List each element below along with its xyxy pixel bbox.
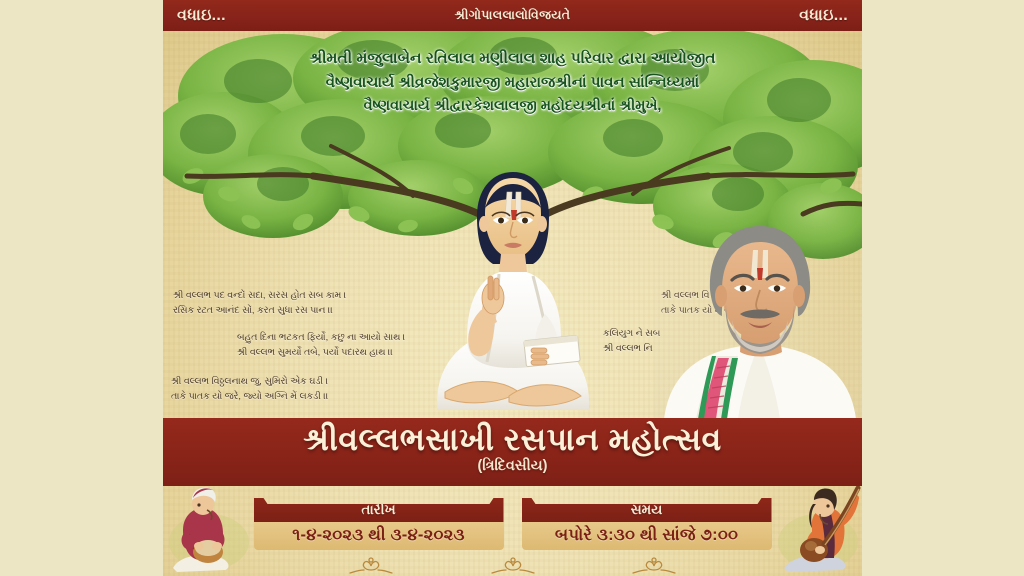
right-margin <box>862 0 1024 576</box>
time-value: બપોરે ૩:૩૦ થી સાંજે ૭:૦૦ <box>522 522 772 550</box>
verse-line: શ્રી વલ્લભ નિ <box>603 341 660 356</box>
banner-right-text: વધાઇ... <box>799 7 848 25</box>
verse-line: કલિયુગ ને સબ <box>603 326 660 341</box>
event-title-band: શ્રીવલ્લભસાખી રસપાન મહોત્સવ (ત્રિદિવસીય) <box>163 418 862 486</box>
invitation-header: શ્રીમતી મંજુલાબેન રતિલાલ મણીલાલ શાહ પરિવ… <box>163 46 862 119</box>
floral-motif-icon <box>348 556 394 574</box>
event-subtitle: (ત્રિદિવસીય) <box>163 458 862 474</box>
poster-stage: વધાઇ... શ્રીગોપાલલાલોવિજયતે વધાઇ... શ્રી… <box>0 0 1024 576</box>
verse-line: બહુત દિના ભટકત ફિર્યો, કછુ ના આયો સાથ । <box>237 330 405 345</box>
banner-center-text: શ્રીગોપાલલાલોવિજયતે <box>455 8 571 23</box>
left-margin <box>0 0 163 576</box>
invitation-line-1: શ્રીમતી મંજુલાબેન રતિલાલ મણીલાલ શાહ પરિવ… <box>163 46 862 71</box>
date-label: તારીખ <box>254 498 504 522</box>
time-label: સમય <box>522 498 772 522</box>
verse-line: શ્રી વલ્લભ પદ વન્દોં સદા, સરસ હોત સબ કામ… <box>173 288 346 303</box>
verse-line: રસિક રટત આનંદ સોં, કરત સુધા રસ પાન ।। <box>173 303 346 318</box>
top-banner: વધાઇ... શ્રીગોપાલલાલોવિજયતે વધાઇ... <box>163 0 862 31</box>
date-value: ૧-૪-૨૦૨૩ થી ૩-૪-૨૦૨૩ <box>254 522 504 550</box>
verse-right-bottom: કલિયુગ ને સબ શ્રી વલ્લભ નિ <box>603 326 660 356</box>
verse-line: શ્રી વલ્લભ સુમર્યો તબે, પર્યો પદારથ હાથ … <box>237 345 405 360</box>
invitation-line-2: વૈષ્ણવાચાર્ય શ્રીવ્રજેશકુમારજી મહારાજશ્ર… <box>163 71 862 95</box>
verse-left-middle: બહુત દિના ભટકત ફિર્યો, કછુ ના આયો સાથ । … <box>237 330 405 360</box>
floral-motif-icon <box>631 556 677 574</box>
time-box: સમય બપોરે ૩:૩૦ થી સાંજે ૭:૦૦ <box>522 498 772 550</box>
event-info-row: તારીખ ૧-૪-૨૦૨૩ થી ૩-૪-૨૦૨૩ સમય બપોરે ૩:૩… <box>163 498 862 550</box>
verse-left-bottom: શ્રી વલ્લભ વિઠ્ઠલનાથ જુ, સુમિરો એક ઘડી ।… <box>171 374 328 404</box>
floral-motif-icon <box>490 556 536 574</box>
verse-left-top: શ્રી વલ્લભ પદ વન્દોં સદા, સરસ હોત સબ કામ… <box>173 288 346 318</box>
date-box: તારીખ ૧-૪-૨૦૨૩ થી ૩-૪-૨૦૨૩ <box>254 498 504 550</box>
guru-portrait-photo <box>654 216 862 419</box>
shri-vallabhacharya-illustration <box>415 152 611 420</box>
invitation-poster: વધાઇ... શ્રીગોપાલલાલોવિજયતે વધાઇ... શ્રી… <box>163 0 862 576</box>
verse-line: તાકે પાતક યો જરે, જ્યો અગ્નિ મેં લકડી ।। <box>171 389 328 404</box>
verse-line: શ્રી વલ્લભ વિઠ્ઠલનાથ જુ, સુમિરો એક ઘડી । <box>171 374 328 389</box>
invitation-line-3: વૈષ્ણવાચાર્ય શ્રીદ્વારકેશલાલજી મહોદયશ્રી… <box>163 95 862 118</box>
event-title: શ્રીવલ્લભસાખી રસપાન મહોત્સવ <box>163 423 862 456</box>
banner-left-text: વધાઇ... <box>177 7 226 25</box>
